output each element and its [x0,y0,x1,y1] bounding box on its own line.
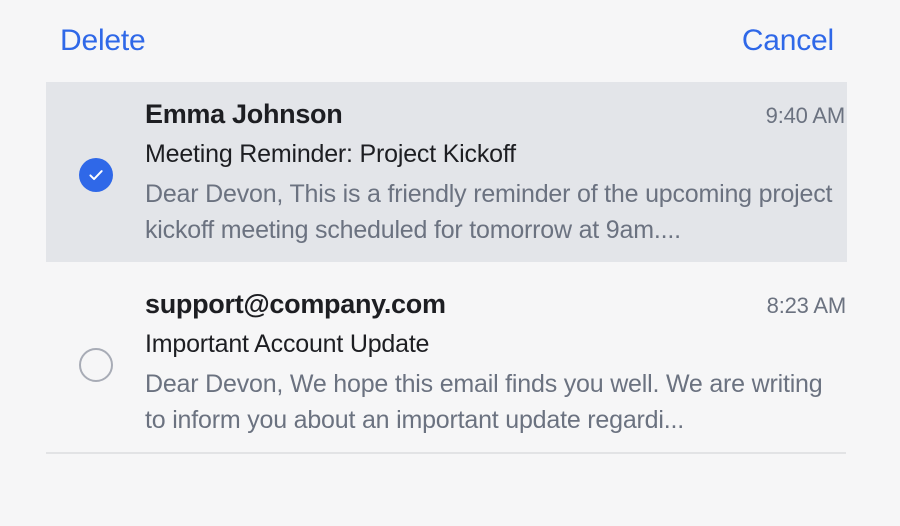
email-preview: Dear Devon, We hope this email finds you… [145,366,846,438]
email-preview: Dear Devon, This is a friendly reminder … [145,176,845,248]
email-subject: Meeting Reminder: Project Kickoff [145,138,845,171]
email-subject: Important Account Update [145,328,846,361]
select-checkbox-cell [46,288,145,438]
list-divider [46,452,846,454]
cancel-button[interactable]: Cancel [740,22,836,60]
email-list: Emma Johnson 9:40 AM Meeting Reminder: P… [0,82,900,454]
email-sender: Emma Johnson [145,98,342,131]
toolbar: Delete Cancel [0,0,900,82]
email-timestamp: 8:23 AM [767,293,846,319]
select-checkbox-cell [46,98,145,248]
email-timestamp: 9:40 AM [766,103,845,129]
email-list-item[interactable]: support@company.com 8:23 AM Important Ac… [0,262,900,452]
email-sender: support@company.com [145,288,446,321]
check-circle-filled-icon[interactable] [79,158,113,192]
email-header-line: support@company.com 8:23 AM [145,288,846,321]
email-content: support@company.com 8:23 AM Important Ac… [145,288,848,438]
email-content: Emma Johnson 9:40 AM Meeting Reminder: P… [145,98,847,248]
email-selection-screen: Delete Cancel Emma Johnson 9:40 AM Meeti… [0,0,900,526]
checkmark-icon [87,166,105,184]
email-header-line: Emma Johnson 9:40 AM [145,98,845,131]
circle-outline-icon[interactable] [79,348,113,382]
delete-button[interactable]: Delete [58,22,148,60]
email-list-item[interactable]: Emma Johnson 9:40 AM Meeting Reminder: P… [46,82,847,262]
